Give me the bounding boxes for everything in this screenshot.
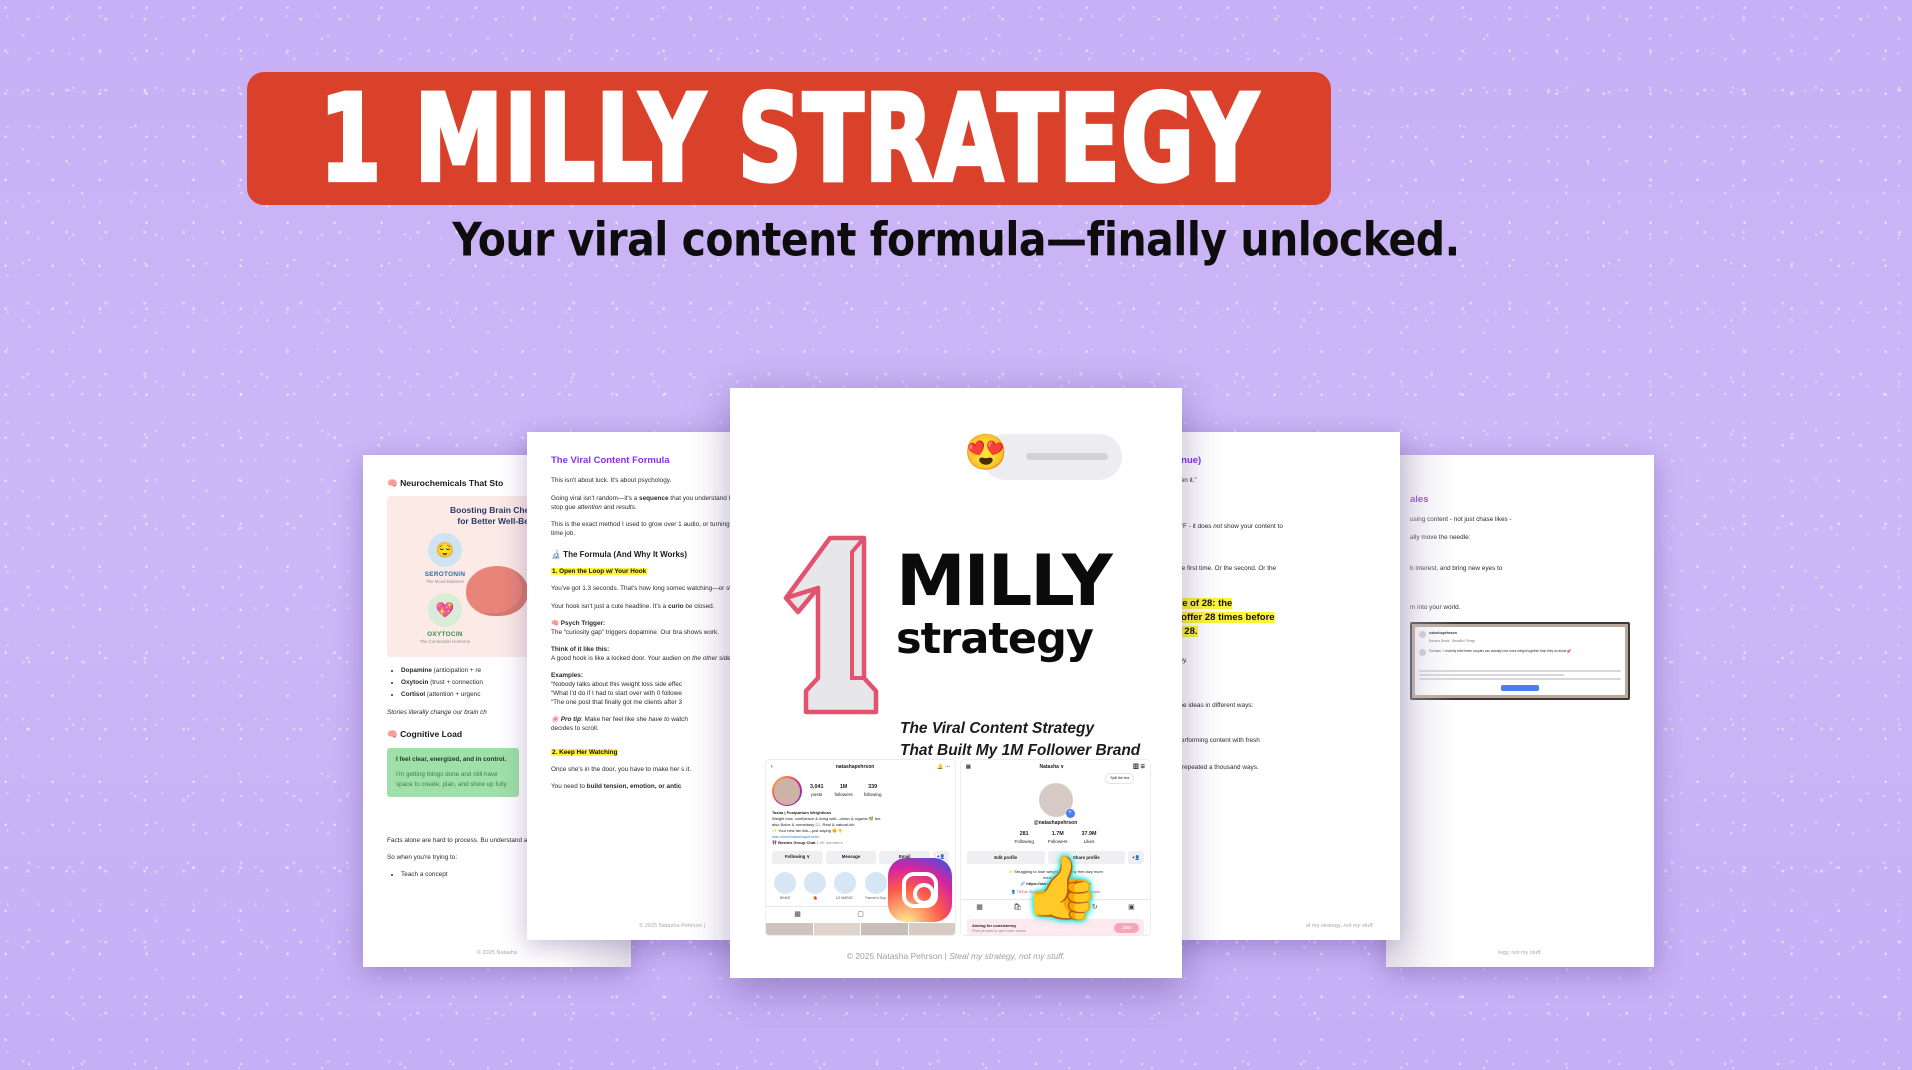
page-footer: © 2025 Natasha	[363, 950, 631, 958]
rule-of-28-highlight: ting rule of 28: the e your offer 28 tim…	[1150, 597, 1376, 640]
think-body: A good hook is like a locked door. Your …	[551, 655, 681, 662]
avatar[interactable]	[772, 776, 802, 806]
reels-icon[interactable]: ▢	[857, 910, 864, 920]
think-italic: on the other side?”	[683, 655, 736, 662]
revenue-heading: d Revenue)	[1150, 454, 1376, 467]
stat-likes: 37.9MLikes	[1082, 831, 1097, 845]
paragraph-bff: not your BFF - it does not show your con…	[1150, 522, 1376, 531]
avatar	[1419, 649, 1426, 656]
plus-circle-icon[interactable]: +	[1066, 809, 1075, 818]
title-banner: 1 MILLY STRATEGY	[247, 72, 1331, 205]
numeral-one-icon	[772, 528, 890, 722]
header: 1 MILLY STRATEGY Your viral content form…	[0, 0, 1912, 300]
chem-name: OXYTOCIN	[393, 630, 497, 639]
screenshot-handle: natashapehrson	[1429, 631, 1621, 636]
avatar[interactable]: +	[1039, 783, 1073, 817]
paragraph-into-your-world: m into your world.	[1410, 603, 1630, 612]
highlight-item[interactable]: Farmer's Dsp	[863, 872, 889, 901]
post-grid[interactable]	[766, 923, 955, 935]
psych-trigger-label: 🧠 Psych Trigger:	[551, 620, 605, 627]
page-subtitle: Your viral content formula—finally unloc…	[0, 213, 1912, 267]
cog-card-title: I feel clear, energized, and in control.	[396, 756, 510, 765]
paragraph-same-ideas: ing the same ideas in different ways:	[1150, 701, 1376, 710]
highlight-item[interactable]: 🍓	[802, 872, 828, 901]
psych-trigger-body: The “curiosity gap” triggers dopamine. O…	[551, 629, 719, 636]
document-cover[interactable]: 😍 MILLY strategy The Viral Content	[730, 388, 1182, 978]
cognitive-load-card: I feel clear, energized, and in control.…	[387, 748, 519, 797]
bell-icon[interactable]: 🔔 ⋯	[937, 764, 950, 771]
grid-post[interactable]	[909, 923, 956, 935]
join-button[interactable]: Join	[1114, 923, 1139, 933]
hands-heart-icon: 💖	[428, 593, 462, 627]
cover-tagline: The Viral Content Strategy That Built My…	[900, 718, 1140, 762]
highlight-keep-her-watching: 2. Keep Her Watching	[551, 749, 618, 756]
screenshot-sub: Banana Bowls · Beautiful Things	[1429, 639, 1475, 643]
instagram-logo-icon	[888, 858, 952, 922]
screenshot-cta-button	[1501, 685, 1539, 691]
tagged-icon[interactable]: ▣	[1128, 903, 1135, 913]
paragraph-seen-it: They've seen it.”	[1150, 476, 1376, 485]
example-2: “What I'd do if I had to start over with…	[551, 690, 682, 697]
banner-sub: Post photos to get more views.	[972, 928, 1027, 934]
loading-pill: 😍	[982, 434, 1122, 480]
thumbs-up-icon: 👍	[1023, 858, 1100, 920]
chem-sub: The Connection Hormone	[393, 639, 497, 645]
document-page-far-right[interactable]: ales using content - not just chase like…	[1386, 455, 1654, 967]
stat-posts: 3,041posts	[810, 784, 824, 798]
grid-post[interactable]	[766, 923, 813, 935]
following-button[interactable]: Following ∨	[772, 851, 823, 864]
profile-a-group-chat[interactable]: 👭 Besties Group Chat	[772, 840, 815, 845]
logo-word-milly: MILLY	[896, 548, 1111, 615]
paragraph-absorb: absorb it the first time. Or the second.…	[1150, 564, 1376, 573]
paragraph-move-needle: ally move the needle:	[1410, 533, 1630, 542]
bag-icon[interactable]: 🛍	[1013, 903, 1022, 913]
chevron-left-icon[interactable]: ‹	[771, 764, 773, 771]
hamburger-menu-icon[interactable]: 🗄 ☰	[1133, 764, 1145, 771]
sun-face-icon: 😌	[428, 533, 462, 567]
bullet-term: Dopamine	[401, 667, 432, 674]
cover-tagline-line2: That Built My 1M Follower Brand	[900, 740, 1140, 762]
story-bubble: Spill the tea	[1105, 773, 1134, 784]
screenshot-comment: Fun fact - I recently tried these couple…	[1429, 649, 1621, 654]
stat-following: 339following	[864, 784, 882, 798]
bullet-desc: (attention + urgenc	[425, 691, 480, 698]
stat-followers: 1.7MFollowers	[1048, 831, 1068, 845]
cover-footer-copyright: © 2025 Natasha Pehrson |	[847, 951, 950, 961]
highlight-item[interactable]: 1/2 MARAT...	[832, 872, 858, 901]
paragraph-recycle: cycle top-performing content with fresh	[1150, 736, 1376, 745]
switch-account-icon[interactable]: ▤	[966, 764, 971, 771]
cog-card-body: I'm getting things done and still have s…	[396, 770, 510, 788]
sales-heading: ales	[1410, 493, 1630, 506]
grid-post[interactable]	[861, 923, 908, 935]
think-label: Think of it like this:	[551, 646, 609, 653]
example-3: “The one post that finally got me client…	[551, 699, 682, 706]
profile-a-group-members: 1.0K members	[817, 840, 843, 845]
instagram-post-screenshot: natashapehrson Banana Bowls · Beautiful …	[1410, 622, 1630, 700]
bullet-term: Cortisol	[401, 691, 425, 698]
bullet-desc: (anticipation + re	[432, 667, 481, 674]
profile-b-handle-top[interactable]: Natasha ∨	[1039, 764, 1064, 771]
grid-icon[interactable]: ▦	[976, 903, 983, 913]
stat-followers: 1Mfollowers	[835, 784, 853, 798]
page-footer: tegy, not my stuff.	[1386, 950, 1654, 958]
paragraph-grab-interest: b interest, and bring new eyes to	[1410, 564, 1630, 573]
grid-post[interactable]	[814, 923, 861, 935]
add-person-icon[interactable]: +👤	[1128, 851, 1144, 864]
stat-following: 281Following	[1014, 831, 1033, 845]
paragraph-using-content: using content - not just chase likes -	[1410, 515, 1630, 524]
pill-progress-bar	[1026, 453, 1108, 460]
paragraph-losing-money: osing money.	[1150, 656, 1376, 665]
page-title: 1 MILLY STRATEGY	[319, 79, 1258, 198]
bullet-term: Oxytocin	[401, 679, 428, 686]
bullet-desc: (trust + connection	[428, 679, 483, 686]
grid-icon[interactable]: ▦	[794, 910, 801, 920]
cover-logo: MILLY strategy	[772, 528, 1111, 722]
example-1: “Nobody talks about this weight loss sid…	[551, 681, 682, 688]
message-button[interactable]: Message	[826, 851, 877, 864]
cover-footer-slogan: Steal my strategy, not my stuff.	[949, 951, 1065, 961]
highlight-item[interactable]: BINKS	[772, 872, 798, 901]
profile-b-handle: @natashapehrson	[961, 820, 1150, 827]
profile-a-handle: natashapehrson	[836, 764, 875, 771]
examples-label: Examples:	[551, 672, 583, 679]
highlight-open-the-loop: 1. Open the Loop w/ Your Hook	[551, 568, 647, 575]
logo-word-strategy: strategy	[896, 617, 1111, 662]
cover-tagline-line1: The Viral Content Strategy	[900, 718, 1140, 740]
avatar	[1419, 631, 1426, 638]
paragraph-great-idea: great idea, repeated a thousand ways.	[1150, 763, 1376, 772]
paragraph-posts: r posts.	[1150, 547, 1376, 556]
cover-footer: © 2025 Natasha Pehrson | Steal my strate…	[730, 950, 1182, 962]
heart-eyes-emoji-icon: 😍	[964, 435, 1008, 470]
brain-icon	[466, 566, 528, 616]
